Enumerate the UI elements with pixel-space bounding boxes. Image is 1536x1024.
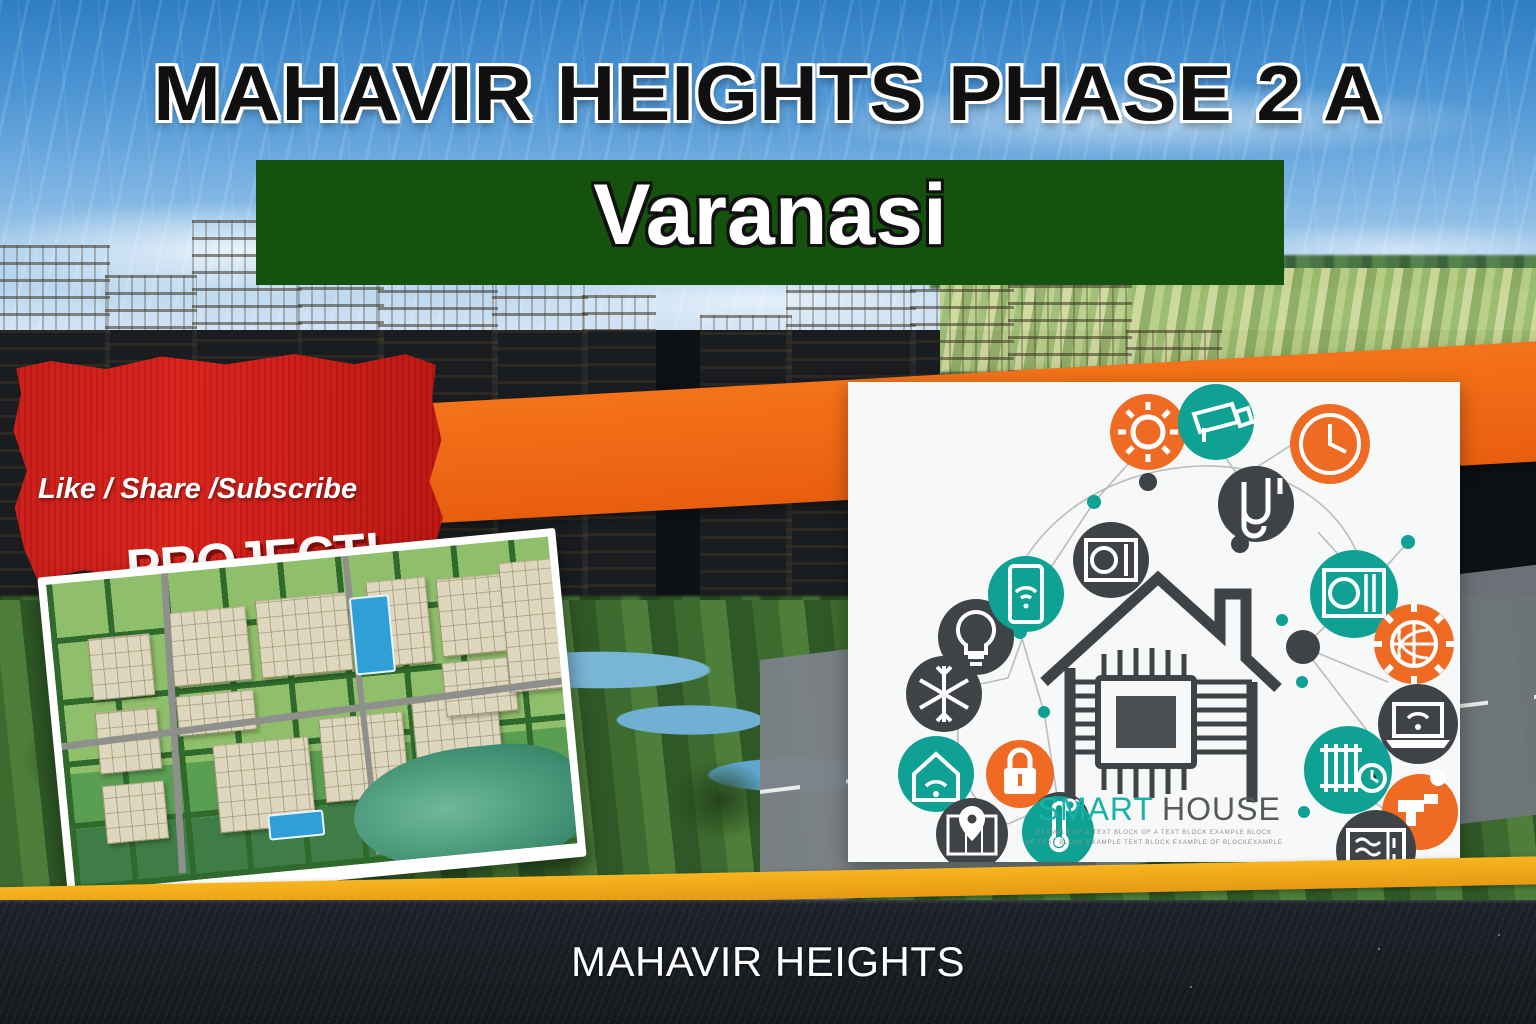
snowflake-icon bbox=[906, 656, 982, 732]
youtube-thumbnail: MAHAVIR HEIGHTS PHASE 2 A Varanasi Like … bbox=[0, 0, 1536, 1024]
cta-label: Like / Share /Subscribe bbox=[38, 473, 458, 506]
city-banner: Varanasi bbox=[256, 160, 1284, 285]
radiator-icon bbox=[1304, 726, 1392, 814]
footer-brand-label: MAHAVIR HEIGHTS bbox=[0, 938, 1536, 986]
smart-house-panel: SMART HOUSE EXAMPLE OF A TEXT BLOCK OF A… bbox=[848, 382, 1460, 862]
air-conditioner-icon bbox=[1073, 522, 1149, 598]
site-plan-blocks bbox=[46, 537, 577, 892]
smart-house-title-part2: HOUSE bbox=[1162, 791, 1281, 827]
smartphone-wifi-icon bbox=[988, 556, 1064, 632]
smart-house-subtitle-line1: EXAMPLE OF A TEXT BLOCK OF A TEXT BLOCK … bbox=[1036, 829, 1272, 836]
footer-bar-highlight bbox=[0, 900, 1536, 904]
security-camera-icon bbox=[1178, 384, 1254, 460]
site-plan-photo bbox=[37, 528, 586, 906]
page-title: MAHAVIR HEIGHTS PHASE 2 A bbox=[0, 48, 1536, 139]
globe-gear-icon bbox=[1374, 604, 1454, 684]
power-plug-icon bbox=[1218, 466, 1294, 542]
smart-house-subtitle-line2: OF TEXT BLOCK EXAMPLE TEXT BLOCK EXAMPLE… bbox=[1025, 839, 1283, 846]
clock-icon bbox=[1290, 404, 1370, 484]
sun-icon bbox=[1110, 394, 1186, 470]
smart-house-title-part1: SMART bbox=[1038, 791, 1154, 827]
city-banner-label: Varanasi bbox=[256, 166, 1284, 265]
laptop-wifi-icon bbox=[1378, 684, 1458, 764]
site-plan-drawing bbox=[46, 537, 577, 892]
